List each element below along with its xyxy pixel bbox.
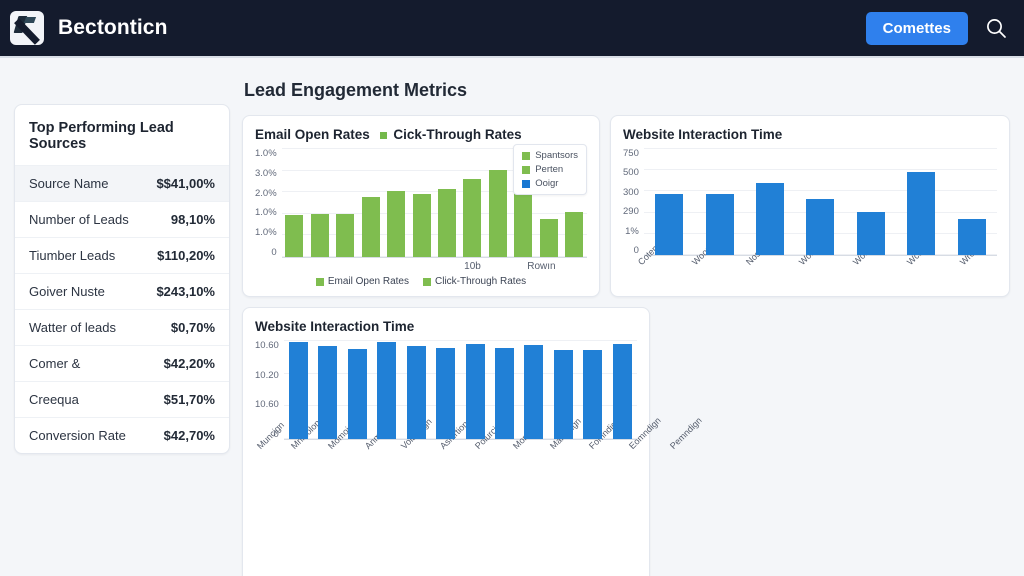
legend-swatch-icon xyxy=(522,180,530,188)
page-body: Top Performing Lead Sources Source Name$… xyxy=(0,56,1024,576)
legend-swatch-icon xyxy=(316,278,324,286)
chart-3-title: Website Interaction Time xyxy=(255,319,637,334)
table-row[interactable]: Watter of leads$0,70% xyxy=(15,309,229,345)
table-row-label: Conversion Rate xyxy=(29,428,126,443)
legend-entry: Perten xyxy=(522,164,578,175)
table-row-label: Goiver Nuste xyxy=(29,284,105,299)
page-title: Lead Engagement Metrics xyxy=(244,80,1010,101)
table-row[interactable]: Source Name$$41,00% xyxy=(15,165,229,201)
table-row-value: $110,20% xyxy=(157,248,215,263)
y-tick-label: 290 xyxy=(623,206,639,217)
chart-1-legend-box: SpantsorsPertenOoigr xyxy=(513,144,587,195)
table-row-value: 98,10% xyxy=(171,212,215,227)
bar[interactable] xyxy=(362,197,380,257)
y-tick-label: 300 xyxy=(623,187,639,198)
bar[interactable] xyxy=(583,350,602,439)
chart-2-y-axis: 7505003002901%0 xyxy=(623,148,644,256)
bar[interactable] xyxy=(756,183,784,255)
legend-entry: Click-Through Rates xyxy=(423,276,526,287)
chart-1-title-dot-icon xyxy=(380,132,387,139)
x-tick-label: Pemndign xyxy=(668,415,725,472)
bar[interactable] xyxy=(958,219,986,255)
legend-label: Email Open Rates xyxy=(328,276,409,287)
legend-swatch-icon xyxy=(522,166,530,174)
bar[interactable] xyxy=(413,194,431,257)
bar[interactable] xyxy=(336,214,354,257)
main-column: Lead Engagement Metrics Email Open Rates… xyxy=(242,72,1010,576)
logo-accent-shape xyxy=(24,17,36,23)
chart-1-legend-bottom: Email Open RatesClick-Through Rates xyxy=(255,276,587,287)
x-tick-label: 10b xyxy=(464,261,481,272)
bar[interactable] xyxy=(613,344,632,439)
table-row[interactable]: Creequa$51,70% xyxy=(15,381,229,417)
legend-label: Spantsors xyxy=(535,150,578,161)
y-tick-label: 500 xyxy=(623,167,639,178)
chart-website-interaction-right: Website Interaction Time 7505003002901%0… xyxy=(610,115,1010,297)
chart-3-x-labels: MuncignMnmolonMomoignAnmdignVolbocignAsm… xyxy=(255,442,637,484)
lead-sources-card: Top Performing Lead Sources Source Name$… xyxy=(14,104,230,454)
bar[interactable] xyxy=(907,172,935,255)
chart-2-x-labels: CotemtWoounNosmnWoonnWoounWcounWronn xyxy=(623,258,997,300)
table-row-label: Watter of leads xyxy=(29,320,116,335)
bar[interactable] xyxy=(489,170,507,257)
header-actions: Comettes xyxy=(866,12,1008,45)
x-tick-label: Rowın xyxy=(527,261,555,272)
charts-top-row: Email Open Rates Cick-Through Rates 1.0%… xyxy=(242,115,1010,297)
legend-entry: Spantsors xyxy=(522,150,578,161)
legend-label: Click-Through Rates xyxy=(435,276,526,287)
y-tick-label: 750 xyxy=(623,148,639,159)
table-row[interactable]: Goiver Nuste$243,10% xyxy=(15,273,229,309)
y-tick-label: 0 xyxy=(623,245,639,256)
bar[interactable] xyxy=(524,345,543,439)
bar[interactable] xyxy=(377,342,396,439)
y-tick-label: 3.0% xyxy=(255,168,277,179)
table-row-label: Number of Leads xyxy=(29,212,129,227)
y-tick-label: 0 xyxy=(255,247,277,258)
y-tick-label: 1.0% xyxy=(255,227,277,238)
bar[interactable] xyxy=(311,214,329,257)
table-row-value: $0,70% xyxy=(171,320,215,335)
chart-2-plot: 7505003002901%0 xyxy=(623,148,997,256)
bar[interactable] xyxy=(466,344,485,439)
chart-1-y-axis: 1.0%3.0%2.0%1.0%1.0%0 xyxy=(255,148,282,258)
legend-label: Ooigr xyxy=(535,178,558,189)
table-row-value: $$41,00% xyxy=(156,176,215,191)
table-row-label: Tiumber Leads xyxy=(29,248,115,263)
bar[interactable] xyxy=(438,189,456,257)
table-row[interactable]: Tiumber Leads$110,20% xyxy=(15,237,229,273)
chart-2-title: Website Interaction Time xyxy=(623,127,997,142)
chart-email-open-rates: Email Open Rates Cick-Through Rates 1.0%… xyxy=(242,115,600,297)
bar[interactable] xyxy=(554,350,573,439)
legend-entry: Ooigr xyxy=(522,178,578,189)
bar[interactable] xyxy=(318,346,337,439)
legend-swatch-icon xyxy=(522,152,530,160)
app-header: Bectonticn Comettes xyxy=(0,0,1024,56)
bar[interactable] xyxy=(348,349,367,439)
table-row-label: Creequa xyxy=(29,392,79,407)
table-row[interactable]: Conversion Rate$42,70% xyxy=(15,417,229,453)
y-tick-label: 2.0% xyxy=(255,188,277,199)
lead-sources-table: Source Name$$41,00%Number of Leads98,10%… xyxy=(15,165,229,453)
bar[interactable] xyxy=(463,179,481,257)
table-row-value: $42,20% xyxy=(164,356,215,371)
y-tick-label: 10.20 xyxy=(255,370,279,381)
chart-1-title: Email Open Rates Cick-Through Rates xyxy=(255,127,587,142)
table-row-label: Comer & xyxy=(29,356,80,371)
bar[interactable] xyxy=(806,199,834,255)
bar[interactable] xyxy=(407,346,426,439)
y-tick-label: 10.60 xyxy=(255,399,279,410)
chart-1-title-main: Email Open Rates xyxy=(255,127,370,142)
bar[interactable] xyxy=(387,191,405,257)
chart-1-x-labels: 10bRowın xyxy=(255,261,587,274)
bar[interactable] xyxy=(436,348,455,439)
legend-entry: Email Open Rates xyxy=(316,276,409,287)
bar[interactable] xyxy=(495,348,514,439)
chart-website-interaction-bottom: Website Interaction Time 10.6010.2010.60… xyxy=(242,307,650,576)
legend-swatch-icon xyxy=(423,278,431,286)
table-row-value: $42,70% xyxy=(164,428,215,443)
bar[interactable] xyxy=(565,212,583,257)
chart-1-title-suffix: Cick-Through Rates xyxy=(393,127,521,142)
table-row[interactable]: Comer &$42,20% xyxy=(15,345,229,381)
bar[interactable] xyxy=(655,194,683,255)
sidebar-column: Top Performing Lead Sources Source Name$… xyxy=(14,72,230,576)
search-icon[interactable] xyxy=(984,16,1008,40)
bar[interactable] xyxy=(285,215,303,257)
table-row[interactable]: Number of Leads98,10% xyxy=(15,201,229,237)
legend-label: Perten xyxy=(535,164,563,175)
y-tick-label: 10.60 xyxy=(255,340,279,351)
y-tick-label: 1% xyxy=(623,226,639,237)
bar[interactable] xyxy=(540,219,558,257)
table-row-label: Source Name xyxy=(29,176,108,191)
comettes-button[interactable]: Comettes xyxy=(866,12,968,45)
lead-sources-title: Top Performing Lead Sources xyxy=(15,105,229,165)
table-row-value: $51,70% xyxy=(164,392,215,407)
table-row-value: $243,10% xyxy=(156,284,215,299)
y-tick-label: 1.0% xyxy=(255,207,277,218)
bar[interactable] xyxy=(706,194,734,255)
logo-mark-icon[interactable] xyxy=(10,11,44,45)
brand-name: Bectonticn xyxy=(58,16,168,40)
chart-2-bars xyxy=(644,148,997,256)
y-tick-label: 1.0% xyxy=(255,148,277,159)
bar[interactable] xyxy=(289,342,308,439)
bar[interactable] xyxy=(857,212,885,255)
